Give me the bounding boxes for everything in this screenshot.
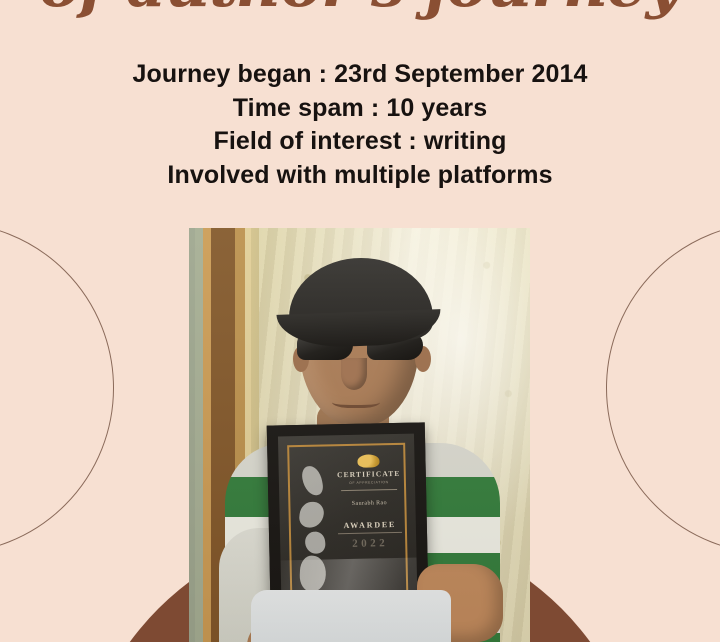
certificate-heading: CERTIFICATE [335, 470, 403, 480]
poster-canvas: of author's journey Journey began : 23rd… [0, 0, 720, 642]
certificate-subheading: OF APPRECIATION [335, 480, 403, 485]
certificate-divider-2 [338, 532, 402, 534]
certificate-recipient-name: Saurabh Rao [335, 500, 403, 507]
nose [341, 358, 367, 390]
mouth [332, 394, 380, 408]
details-block: Journey began : 23rd September 2014 Time… [0, 58, 720, 192]
detail-line-platforms: Involved with multiple platforms [0, 159, 720, 193]
certificate-seal-icon [357, 454, 379, 467]
script-title: of author's journey [0, 0, 720, 16]
certificate-divider [341, 489, 397, 491]
white-cloth [251, 590, 451, 642]
detail-line-time-span: Time spam : 10 years [0, 92, 720, 126]
author-photo: CERTIFICATE OF APPRECIATION Saurabh Rao … [189, 228, 530, 642]
decorative-circle-left [0, 222, 114, 554]
photo-content: CERTIFICATE OF APPRECIATION Saurabh Rao … [189, 228, 530, 642]
certificate-year: 2022 [336, 537, 404, 550]
certificate-award-label: AWARDEE [336, 520, 404, 530]
decorative-circle-right [606, 222, 720, 554]
detail-line-journey-began: Journey began : 23rd September 2014 [0, 58, 720, 92]
detail-line-field-of-interest: Field of interest : writing [0, 125, 720, 159]
person-figure: CERTIFICATE OF APPRECIATION Saurabh Rao … [189, 228, 530, 642]
